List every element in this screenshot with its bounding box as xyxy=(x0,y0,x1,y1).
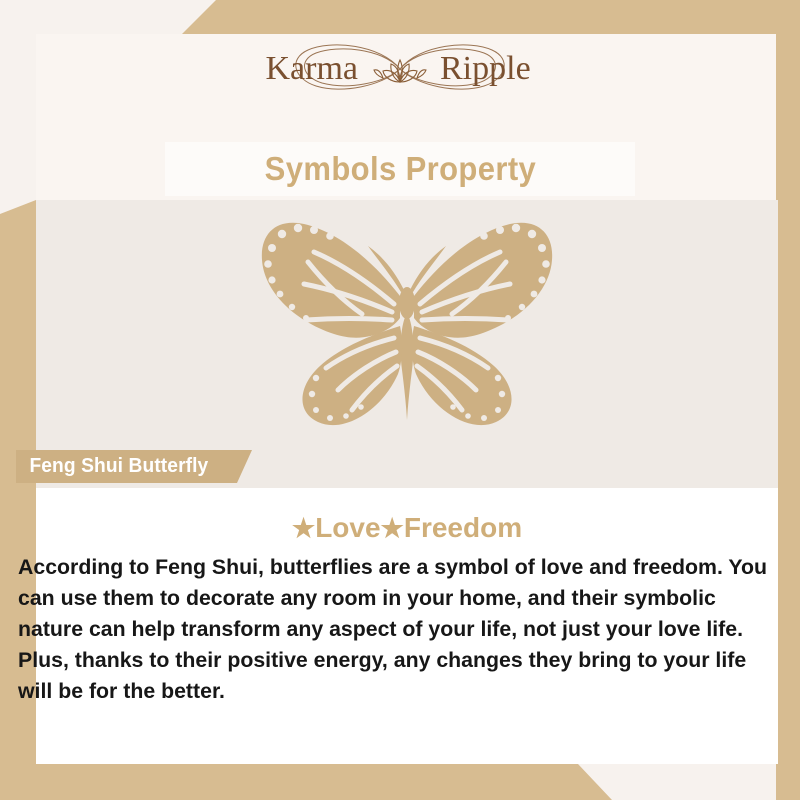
top-accent-bar xyxy=(0,0,800,34)
poster-canvas: Karma Ripple Symbols Property xyxy=(0,0,800,800)
kicker-word-freedom: Freedom xyxy=(404,512,522,543)
page-title: Symbols Property xyxy=(264,150,535,188)
description-panel: ★Love★Freedom According to Feng Shui, bu… xyxy=(36,488,778,764)
bottom-accent-bar xyxy=(0,764,800,800)
logo-word-karma: Karma xyxy=(265,50,358,87)
kicker-word-love: Love xyxy=(315,512,380,543)
description-paragraph: According to Feng Shui, butterflies are … xyxy=(18,552,786,707)
section-title-band: Symbols Property xyxy=(165,142,635,196)
feng-shui-butterfly-label: Feng Shui Butterfly xyxy=(16,450,252,483)
star-icon-mid: ★ xyxy=(381,513,404,543)
butterfly-icon xyxy=(242,208,572,478)
kicker-heading: ★Love★Freedom xyxy=(36,512,778,544)
ribbon-label-text: Feng Shui Butterfly xyxy=(16,455,208,478)
logo-svg: Karma Ripple xyxy=(250,38,550,100)
left-accent-bar xyxy=(0,200,36,800)
hero-panel xyxy=(36,200,778,488)
logo-word-ripple: Ripple xyxy=(440,50,531,87)
brand-logo: Karma Ripple xyxy=(0,36,800,102)
star-icon-left: ★ xyxy=(292,513,315,543)
